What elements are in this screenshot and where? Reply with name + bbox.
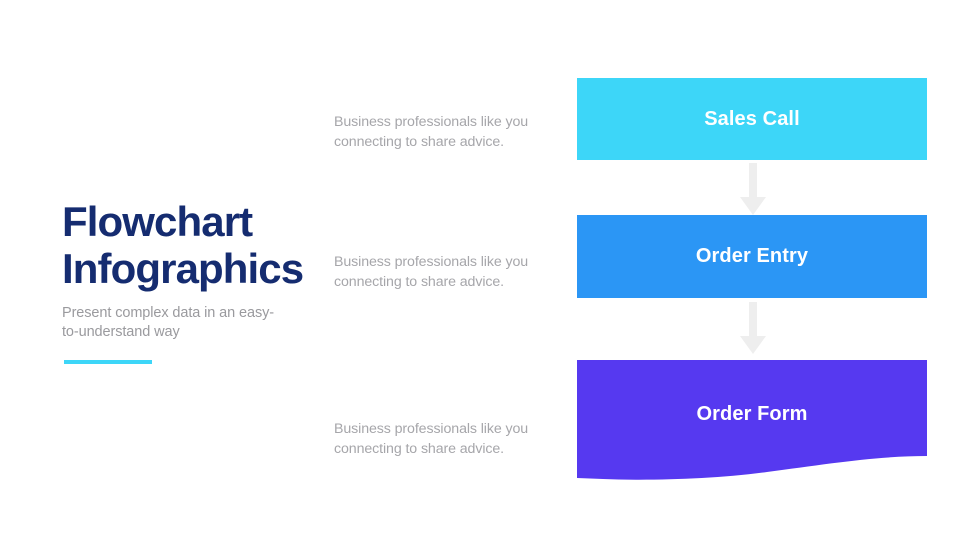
flow-step-label-3: Order Form <box>696 403 807 426</box>
arrow-down-icon-1 <box>739 163 767 217</box>
title-block: Flowchart Infographics Present complex d… <box>62 198 332 342</box>
flow-step-sales-call[interactable]: Sales Call <box>577 78 927 160</box>
flow-step-label-1: Sales Call <box>704 108 800 131</box>
accent-underline <box>64 360 152 364</box>
arrow-down-icon-2 <box>739 302 767 356</box>
page-subtitle: Present complex data in an easy-to-under… <box>62 304 277 342</box>
description-text-2: Business professionals like you connecti… <box>334 252 549 292</box>
flow-step-order-entry[interactable]: Order Entry <box>577 215 927 298</box>
description-text-3: Business professionals like you connecti… <box>334 419 549 459</box>
flow-step-label-2: Order Entry <box>696 245 808 268</box>
flow-step-order-form[interactable]: Order Form <box>577 360 927 480</box>
slide-canvas: Flowchart Infographics Present complex d… <box>0 0 980 551</box>
description-text-1: Business professionals like you connecti… <box>334 112 549 152</box>
page-title: Flowchart Infographics <box>62 198 332 292</box>
